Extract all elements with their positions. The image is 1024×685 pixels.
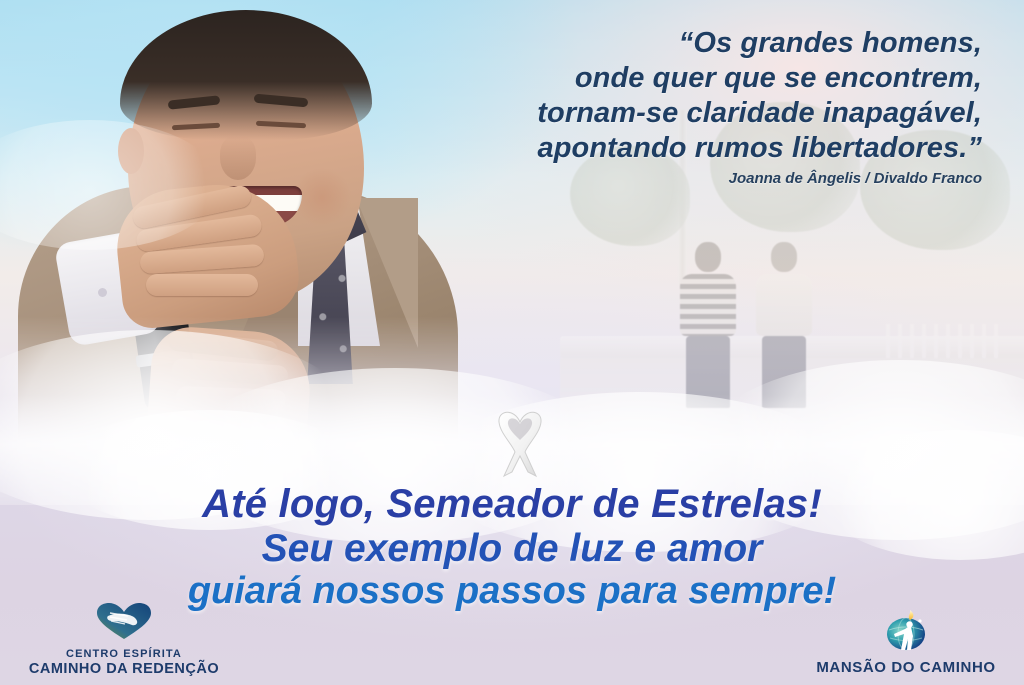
logo-right-line-1: MANSÃO DO CAMINHO: [796, 660, 1016, 677]
logo-centro-espirita-caminho-da-redencao: CENTRO ESPÍRITA CAMINHO DA REDENÇÃO: [14, 602, 234, 677]
hair: [120, 10, 372, 140]
quote-line-2: onde quer que se encontrem,: [382, 61, 982, 96]
logo-left-line-2: CAMINHO DA REDENÇÃO: [14, 661, 234, 677]
headline-line-2: Seu exemplo de luz e amor: [0, 529, 1024, 570]
logo-mansao-do-caminho: MANSÃO DO CAMINHO: [796, 610, 1016, 677]
background-fence: [886, 324, 1006, 358]
ear: [118, 128, 144, 174]
cuff-button: [98, 288, 107, 297]
background-figure: [756, 242, 812, 408]
quote-line-3: tornam-se claridade inapagável,: [382, 96, 982, 131]
quote-line-1: “Os grandes homens,: [382, 26, 982, 61]
headline-line-1: Até logo, Semeador de Estrelas!: [0, 484, 1024, 526]
logo-right-text: MANSÃO DO CAMINHO: [796, 660, 1016, 677]
quote-text: “Os grandes homens, onde quer que se enc…: [382, 26, 982, 166]
background-figure: [680, 242, 736, 408]
quote-attribution: Joanna de Ângelis / Divaldo Franco: [382, 170, 982, 187]
finger: [146, 274, 258, 296]
lapel-right: [356, 198, 418, 348]
logo-left-text: CENTRO ESPÍRITA CAMINHO DA REDENÇÃO: [14, 648, 234, 677]
white-ribbon-icon: [488, 406, 552, 478]
memorial-poster: “Os grandes homens, onde quer que se enc…: [0, 0, 1024, 685]
headline: Até logo, Semeador de Estrelas! Seu exem…: [0, 484, 1024, 612]
logo-left-line-1: CENTRO ESPÍRITA: [14, 648, 234, 660]
finger: [176, 386, 287, 410]
nose: [220, 136, 256, 180]
quote-line-4: apontando rumos libertadores.”: [382, 131, 982, 166]
globe-figure-flame-icon: [796, 610, 1016, 657]
heart-hands-icon: [14, 602, 234, 645]
